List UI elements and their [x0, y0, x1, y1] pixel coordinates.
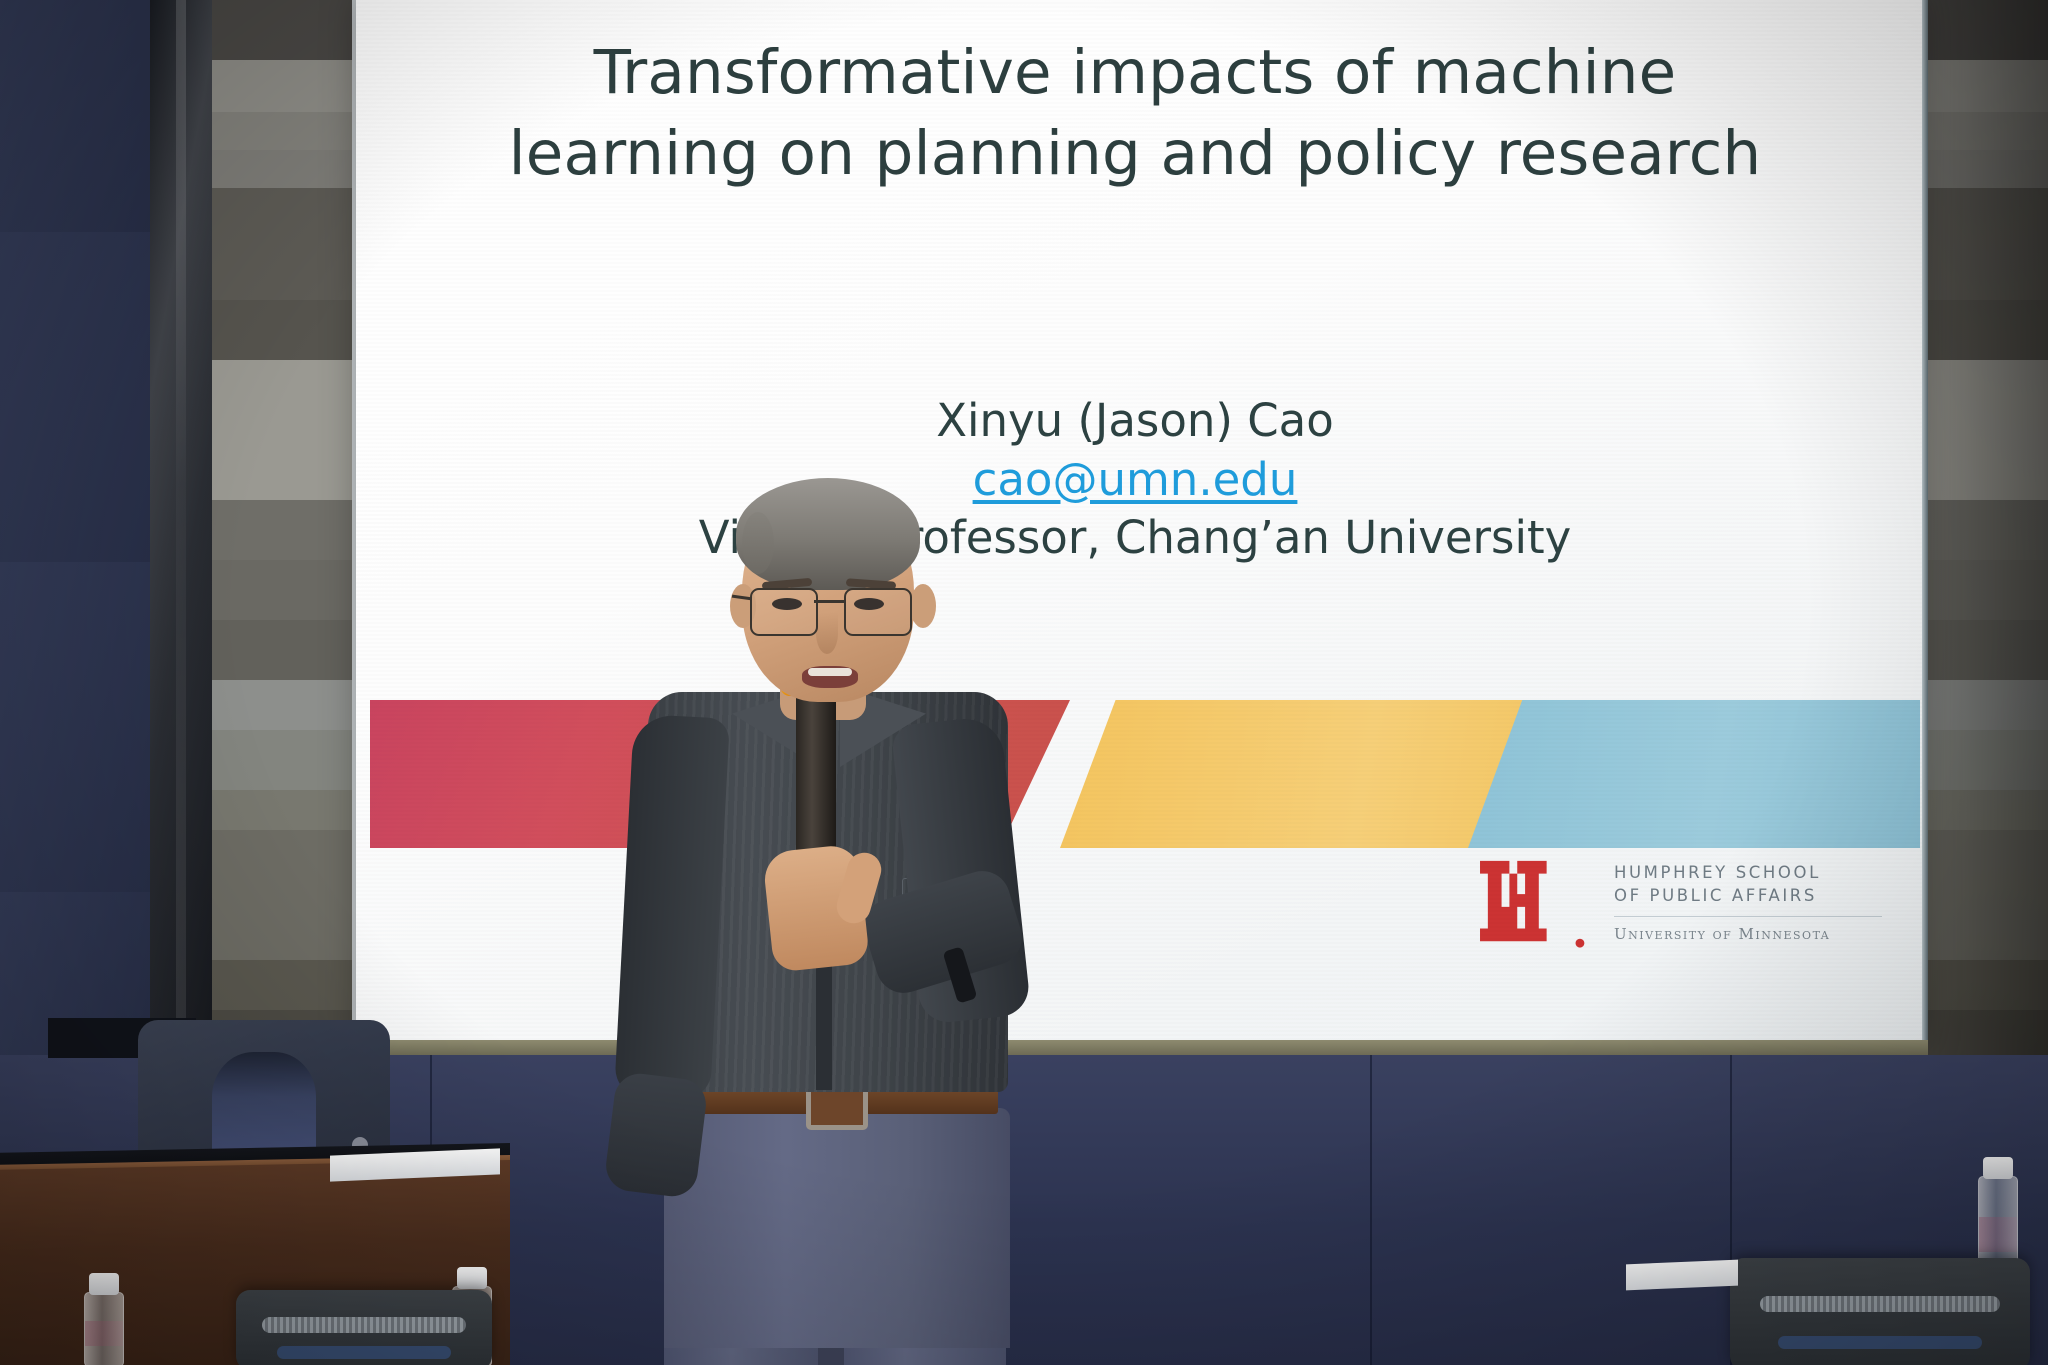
bottle-cap: [89, 1273, 119, 1295]
navy-acoustic-panel-left: [0, 0, 150, 1075]
pillar-highlight: [176, 0, 186, 1075]
bottle-label: [1979, 1217, 2017, 1252]
paper-sheet: [1626, 1260, 1738, 1291]
glasses-bridge: [814, 600, 846, 603]
lens-left: [750, 588, 818, 636]
logo-school-line-1: HUMPHREY SCHOOL: [1614, 861, 1882, 884]
trousers-hip: [664, 1108, 1010, 1348]
hair: [736, 478, 920, 590]
slide-title-line-1: Transformative impacts of machine: [400, 32, 1870, 113]
screen-edge-right: [1922, 0, 1928, 1046]
bottle-cap: [1983, 1157, 2013, 1179]
umn-logo-lockup: HUMPHREY SCHOOL OF PUBLIC AFFAIRS Univer…: [1470, 855, 1882, 951]
projection-screen: Transformative impacts of machine learni…: [356, 0, 1924, 1046]
bottle-cap: [457, 1267, 487, 1289]
eyeglasses: [748, 588, 914, 634]
water-bottle: [84, 1292, 124, 1365]
hand-in-pocket: [603, 1071, 709, 1199]
foreground-chair: [1730, 1258, 2030, 1365]
wall-right-shadow: [1925, 0, 2048, 1075]
umn-maroon-m-icon: [1470, 855, 1588, 951]
presenter-figure: [620, 480, 1040, 1365]
lens-right: [844, 588, 912, 636]
arm-left: [614, 714, 730, 1101]
mouth: [802, 666, 858, 688]
presenter-name: Xinyu (Jason) Cao: [400, 392, 1870, 451]
slide-title: Transformative impacts of machine learni…: [400, 32, 1870, 194]
bottle-label: [85, 1321, 123, 1346]
foreground-chair: [236, 1290, 492, 1365]
slide-title-line-2: learning on planning and policy research: [400, 113, 1870, 194]
umn-logo-text: HUMPHREY SCHOOL OF PUBLIC AFFAIRS Univer…: [1614, 861, 1882, 945]
photo-scene: Transformative impacts of machine learni…: [0, 0, 2048, 1365]
accent-band-blue: [1468, 700, 1920, 848]
logo-university-line: University of Minnesota: [1614, 924, 1882, 945]
logo-school-line-2: OF PUBLIC AFFAIRS: [1614, 884, 1882, 907]
logo-divider: [1614, 916, 1882, 917]
